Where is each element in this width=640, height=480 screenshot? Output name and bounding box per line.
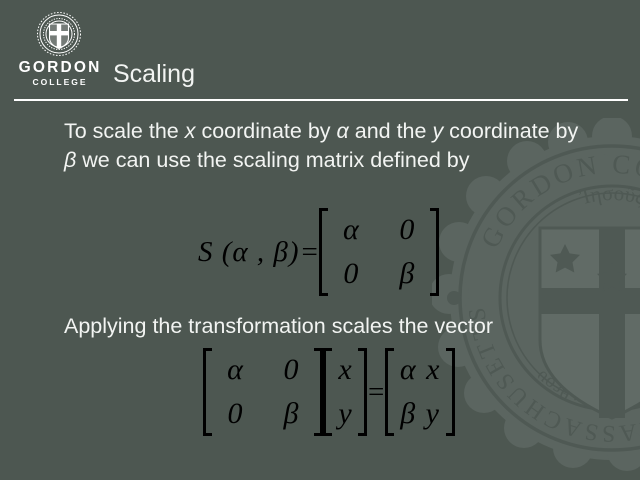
matrix-row: 0 β bbox=[218, 392, 308, 436]
bracket-left-icon bbox=[385, 348, 394, 436]
svg-text:Ἰησοῦς: Ἰησοῦς bbox=[577, 181, 640, 210]
matrix-cell: 0 bbox=[390, 208, 424, 252]
vector-result: α x β y bbox=[385, 348, 455, 436]
matrix-row: x bbox=[332, 348, 358, 392]
bracket-left-icon bbox=[319, 208, 328, 296]
matrix-cell: α bbox=[218, 348, 252, 392]
svg-text:Χριστὸς σοφία θεοῦ: Χριστὸς σοφία θεοῦ bbox=[531, 366, 640, 414]
text-part-1: To scale the bbox=[64, 119, 185, 143]
matrix-cell: β y bbox=[394, 392, 446, 436]
brand-name: GORDON bbox=[13, 60, 105, 76]
brand-subtitle: COLLEGE bbox=[13, 76, 105, 89]
vector-xy: x y bbox=[323, 348, 367, 436]
matrix-cell: α x bbox=[394, 348, 446, 392]
var-alpha: α bbox=[337, 119, 349, 143]
matrix-row: α 0 bbox=[218, 348, 308, 392]
matrix-cell: 0 bbox=[274, 348, 308, 392]
matrix-S: α 0 0 β bbox=[319, 208, 439, 296]
matrix-A: α 0 0 β bbox=[203, 348, 323, 436]
equation-1-lead: S (α , β) bbox=[198, 236, 300, 269]
page-title: Scaling bbox=[113, 60, 195, 88]
bracket-left-icon bbox=[323, 348, 332, 436]
var-beta: β bbox=[64, 148, 76, 172]
matrix-row: α x bbox=[394, 348, 446, 392]
brand-logo: GORDON COLLEGE bbox=[13, 11, 105, 89]
text-part-3: and the bbox=[349, 119, 433, 143]
matrix-row: 0 β bbox=[334, 252, 424, 296]
matrix-cell: 0 bbox=[218, 392, 252, 436]
text-part-2: coordinate by bbox=[195, 119, 336, 143]
gordon-college-seal-icon bbox=[36, 11, 82, 57]
bracket-right-icon bbox=[314, 348, 323, 436]
slide-canvas: GORDON COLLEGE WENHAM, MASSACHUSETTS Ἰησ… bbox=[0, 0, 640, 480]
bracket-right-icon bbox=[446, 348, 455, 436]
matrix-cell: β bbox=[390, 252, 424, 296]
matrix-row: y bbox=[332, 392, 358, 436]
equation-scaling-matrix: S (α , β) = α 0 0 β bbox=[198, 208, 439, 296]
matrix-cell: 0 bbox=[334, 252, 368, 296]
matrix-cell: α bbox=[334, 208, 368, 252]
var-x: x bbox=[185, 119, 196, 143]
equation-1-equals: = bbox=[300, 236, 318, 269]
bracket-right-icon bbox=[430, 208, 439, 296]
paragraph-transformation: Applying the transformation scales the v… bbox=[64, 312, 604, 341]
text-part-5: we can use the scaling matrix defined by bbox=[76, 148, 469, 172]
bracket-right-icon bbox=[358, 348, 367, 436]
equation-2-equals: = bbox=[367, 376, 385, 409]
text-part-4: coordinate by bbox=[443, 119, 578, 143]
title-divider bbox=[14, 99, 628, 101]
bracket-left-icon bbox=[203, 348, 212, 436]
matrix-cell: x bbox=[332, 348, 358, 392]
matrix-row: β y bbox=[394, 392, 446, 436]
matrix-cell: β bbox=[274, 392, 308, 436]
paragraph-scaling-intro: To scale the x coordinate by α and the y… bbox=[64, 117, 584, 175]
slide-header: GORDON COLLEGE Scaling bbox=[0, 0, 640, 101]
equation-scaling-applied: α 0 0 β x y bbox=[203, 348, 455, 436]
matrix-row: α 0 bbox=[334, 208, 424, 252]
matrix-cell: y bbox=[332, 392, 358, 436]
var-y: y bbox=[432, 119, 443, 143]
